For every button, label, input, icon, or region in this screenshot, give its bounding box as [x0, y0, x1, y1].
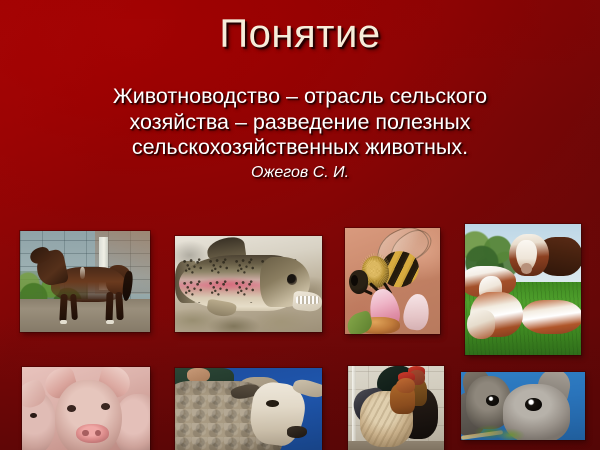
- bee-photo: [345, 228, 440, 334]
- rabbits-photo: [461, 372, 585, 440]
- definition-line-2: хозяйства – разведение полезных: [34, 110, 566, 136]
- presentation-slide: Понятие Животноводство – отрасль сельско…: [0, 0, 600, 450]
- horse-photo: [20, 231, 150, 332]
- slide-content: Понятие Животноводство – отрасль сельско…: [0, 0, 600, 450]
- sheep-photo: [175, 368, 322, 450]
- pigs-photo: [22, 367, 150, 450]
- definition-attribution: Ожегов С. И.: [34, 163, 566, 183]
- chicken-photo: [348, 366, 444, 450]
- cows-photo: [465, 224, 581, 355]
- definition-line-3: сельскохозяйственных животных.: [34, 135, 566, 161]
- fish-photo: [175, 236, 322, 332]
- definition-block: Животноводство – отрасль сельского хозяй…: [34, 84, 566, 183]
- definition-line-1: Животноводство – отрасль сельского: [34, 84, 566, 110]
- slide-title: Понятие: [0, 8, 600, 60]
